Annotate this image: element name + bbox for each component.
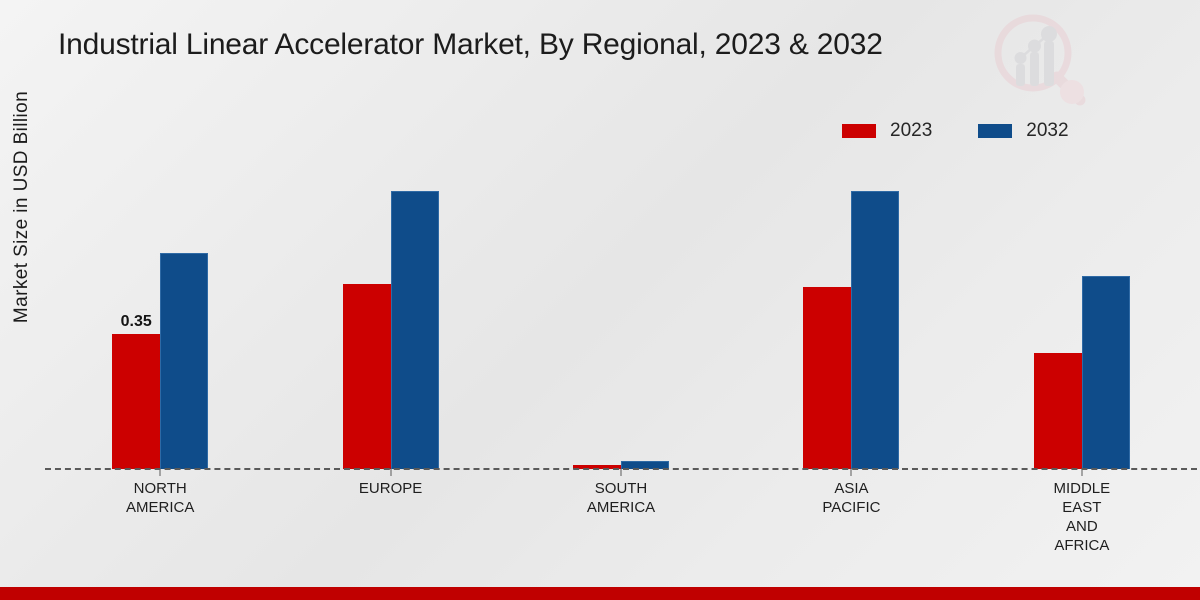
x-category-label-line: PACIFIC bbox=[736, 498, 966, 517]
bar-groups: 0.35 bbox=[45, 160, 1197, 469]
x-category-label-line: SOUTH bbox=[506, 479, 736, 498]
x-category-label: SOUTHAMERICA bbox=[506, 479, 736, 517]
bar-2023[interactable]: 0.35 bbox=[112, 334, 160, 469]
legend-item-2032[interactable]: 2032 bbox=[978, 120, 1068, 142]
bar-2032[interactable] bbox=[851, 191, 899, 469]
chart-title: Industrial Linear Accelerator Market, By… bbox=[58, 28, 883, 62]
x-category-label: MIDDLEEASTANDAFRICA bbox=[967, 479, 1197, 555]
watermark-logo-icon bbox=[988, 8, 1088, 108]
bar-pair bbox=[343, 160, 439, 469]
x-category-label: ASIAPACIFIC bbox=[736, 479, 966, 517]
x-tick-cell: NORTHAMERICA bbox=[45, 469, 275, 589]
chart-container: Industrial Linear Accelerator Market, By… bbox=[0, 0, 1200, 600]
x-tick-cell: SOUTHAMERICA bbox=[506, 469, 736, 589]
bar-group bbox=[736, 160, 966, 469]
chart-legend: 2023 2032 bbox=[842, 120, 1069, 142]
bar-2023[interactable] bbox=[343, 284, 391, 469]
x-axis-categories: NORTHAMERICAEUROPESOUTHAMERICAASIAPACIFI… bbox=[45, 469, 1197, 589]
x-category-label-line: ASIA bbox=[736, 479, 966, 498]
bar-group: 0.35 bbox=[45, 160, 275, 469]
bar-group bbox=[967, 160, 1197, 469]
x-category-label-line: EAST bbox=[967, 498, 1197, 517]
x-tick-mark bbox=[1081, 469, 1082, 476]
bar-pair bbox=[573, 160, 669, 469]
x-tick-mark bbox=[160, 469, 161, 476]
legend-label-2032: 2032 bbox=[1026, 120, 1068, 142]
x-category-label-line: AFRICA bbox=[967, 536, 1197, 555]
bar-pair: 0.35 bbox=[112, 160, 208, 469]
bar-2023[interactable] bbox=[1034, 353, 1082, 469]
legend-item-2023[interactable]: 2023 bbox=[842, 120, 932, 142]
footer-accent-band bbox=[0, 587, 1200, 600]
bar-group bbox=[275, 160, 505, 469]
bar-value-label: 0.35 bbox=[121, 313, 152, 331]
legend-label-2023: 2023 bbox=[890, 120, 932, 142]
x-category-label-line: EUROPE bbox=[275, 479, 505, 498]
bar-2023[interactable] bbox=[803, 287, 851, 469]
y-axis-title: Market Size in USD Billion bbox=[11, 17, 33, 397]
x-category-label: NORTHAMERICA bbox=[45, 479, 275, 517]
x-tick-cell: ASIAPACIFIC bbox=[736, 469, 966, 589]
x-category-label: EUROPE bbox=[275, 479, 505, 498]
legend-swatch-2032 bbox=[978, 124, 1012, 138]
x-category-label-line: MIDDLE bbox=[967, 479, 1197, 498]
bar-pair bbox=[1034, 160, 1130, 469]
bar-group bbox=[506, 160, 736, 469]
bar-pair bbox=[803, 160, 899, 469]
x-tick-mark bbox=[621, 469, 622, 476]
x-tick-cell: EUROPE bbox=[275, 469, 505, 589]
bar-2032[interactable] bbox=[391, 191, 439, 469]
x-category-label-line: AND bbox=[967, 517, 1197, 536]
x-category-label-line: NORTH bbox=[45, 479, 275, 498]
bar-2032[interactable] bbox=[1082, 276, 1130, 469]
x-category-label-line: AMERICA bbox=[45, 498, 275, 517]
x-category-label-line: AMERICA bbox=[506, 498, 736, 517]
x-tick-mark bbox=[851, 469, 852, 476]
bar-2032[interactable] bbox=[160, 253, 208, 469]
x-tick-cell: MIDDLEEASTANDAFRICA bbox=[967, 469, 1197, 589]
legend-swatch-2023 bbox=[842, 124, 876, 138]
x-tick-mark bbox=[390, 469, 391, 476]
